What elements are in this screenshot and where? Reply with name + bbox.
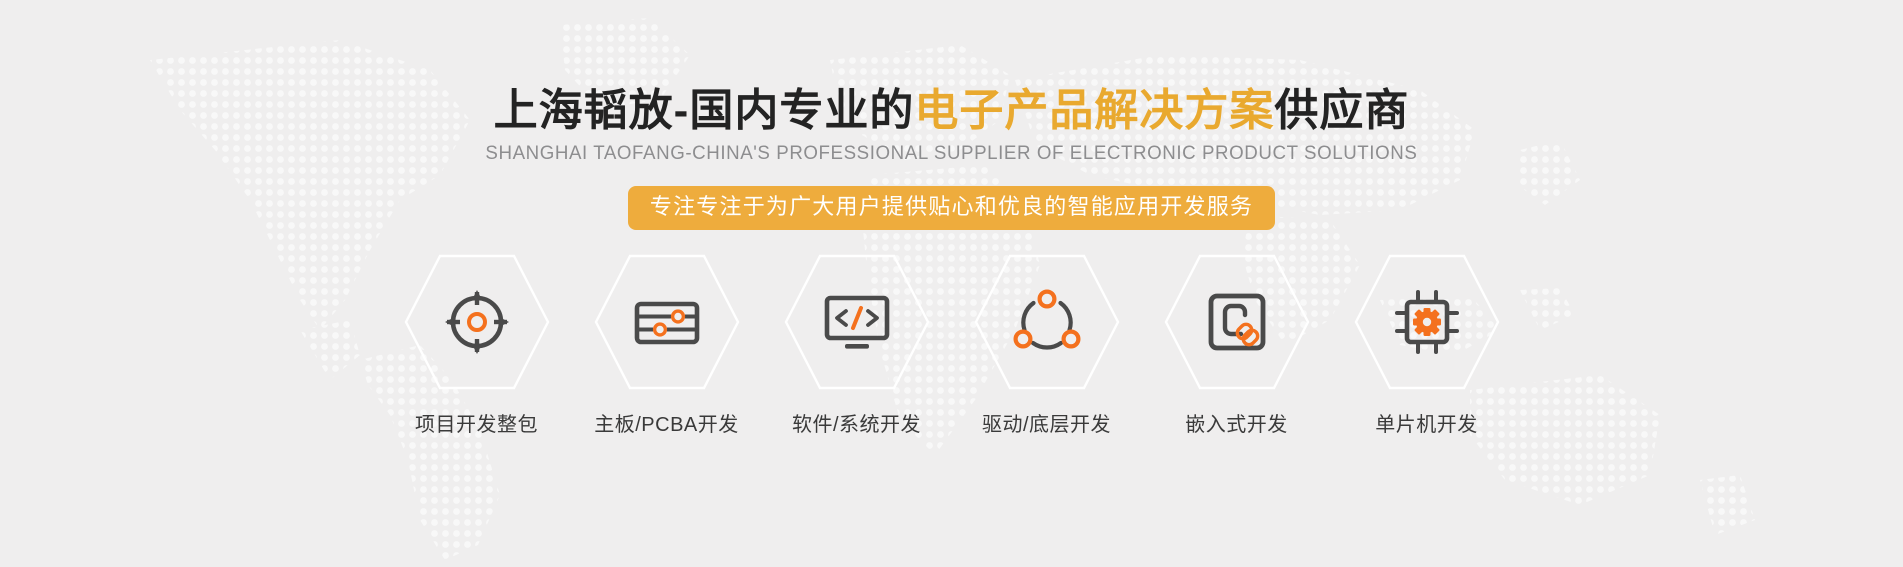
hero-banner: 上海韬放-国内专业的电子产品解决方案供应商 SHANGHAI TAOFANG-C… <box>0 0 1903 567</box>
service-label: 项目开发整包 <box>415 408 538 437</box>
service-item[interactable]: 单片机开发 <box>1347 252 1507 437</box>
microchip-gear-icon <box>1391 286 1463 358</box>
hexagon-frame <box>973 252 1121 392</box>
circuit-board-icon <box>631 286 703 358</box>
hexagon-frame <box>1353 252 1501 392</box>
title-segment-primary: 上海韬放-国内专业的 <box>494 86 915 135</box>
service-item[interactable]: 主板/PCBA开发 <box>587 252 747 437</box>
monitor-code-icon <box>821 286 893 358</box>
hexagon-frame <box>1163 252 1311 392</box>
title-segment-suffix: 供应商 <box>1274 86 1409 135</box>
hexagon-frame <box>783 252 931 392</box>
page-title: 上海韬放-国内专业的电子产品解决方案供应商 <box>494 86 1410 135</box>
service-label: 主板/PCBA开发 <box>594 408 739 437</box>
service-label: 软件/系统开发 <box>792 408 921 437</box>
embedded-chip-link-icon <box>1201 286 1273 358</box>
page-subtitle: SHANGHAI TAOFANG-CHINA'S PROFESSIONAL SU… <box>486 142 1418 165</box>
tagline-badge: 专注专注于为广大用户提供贴心和优良的智能应用开发服务 <box>628 186 1275 229</box>
services-list: 项目开发整包 <box>397 252 1507 437</box>
hexagon-frame <box>593 252 741 392</box>
service-item[interactable]: 嵌入式开发 <box>1157 252 1317 437</box>
service-item[interactable]: 驱动/底层开发 <box>967 252 1127 437</box>
service-item[interactable]: 项目开发整包 <box>397 252 557 437</box>
network-nodes-icon <box>1011 286 1083 358</box>
service-label: 单片机开发 <box>1375 408 1478 437</box>
service-label: 驱动/底层开发 <box>982 408 1111 437</box>
crosshair-target-icon <box>441 286 513 358</box>
title-segment-accent: 电子产品解决方案 <box>914 86 1274 135</box>
service-label: 嵌入式开发 <box>1185 408 1288 437</box>
hexagon-frame <box>403 252 551 392</box>
service-item[interactable]: 软件/系统开发 <box>777 252 937 437</box>
